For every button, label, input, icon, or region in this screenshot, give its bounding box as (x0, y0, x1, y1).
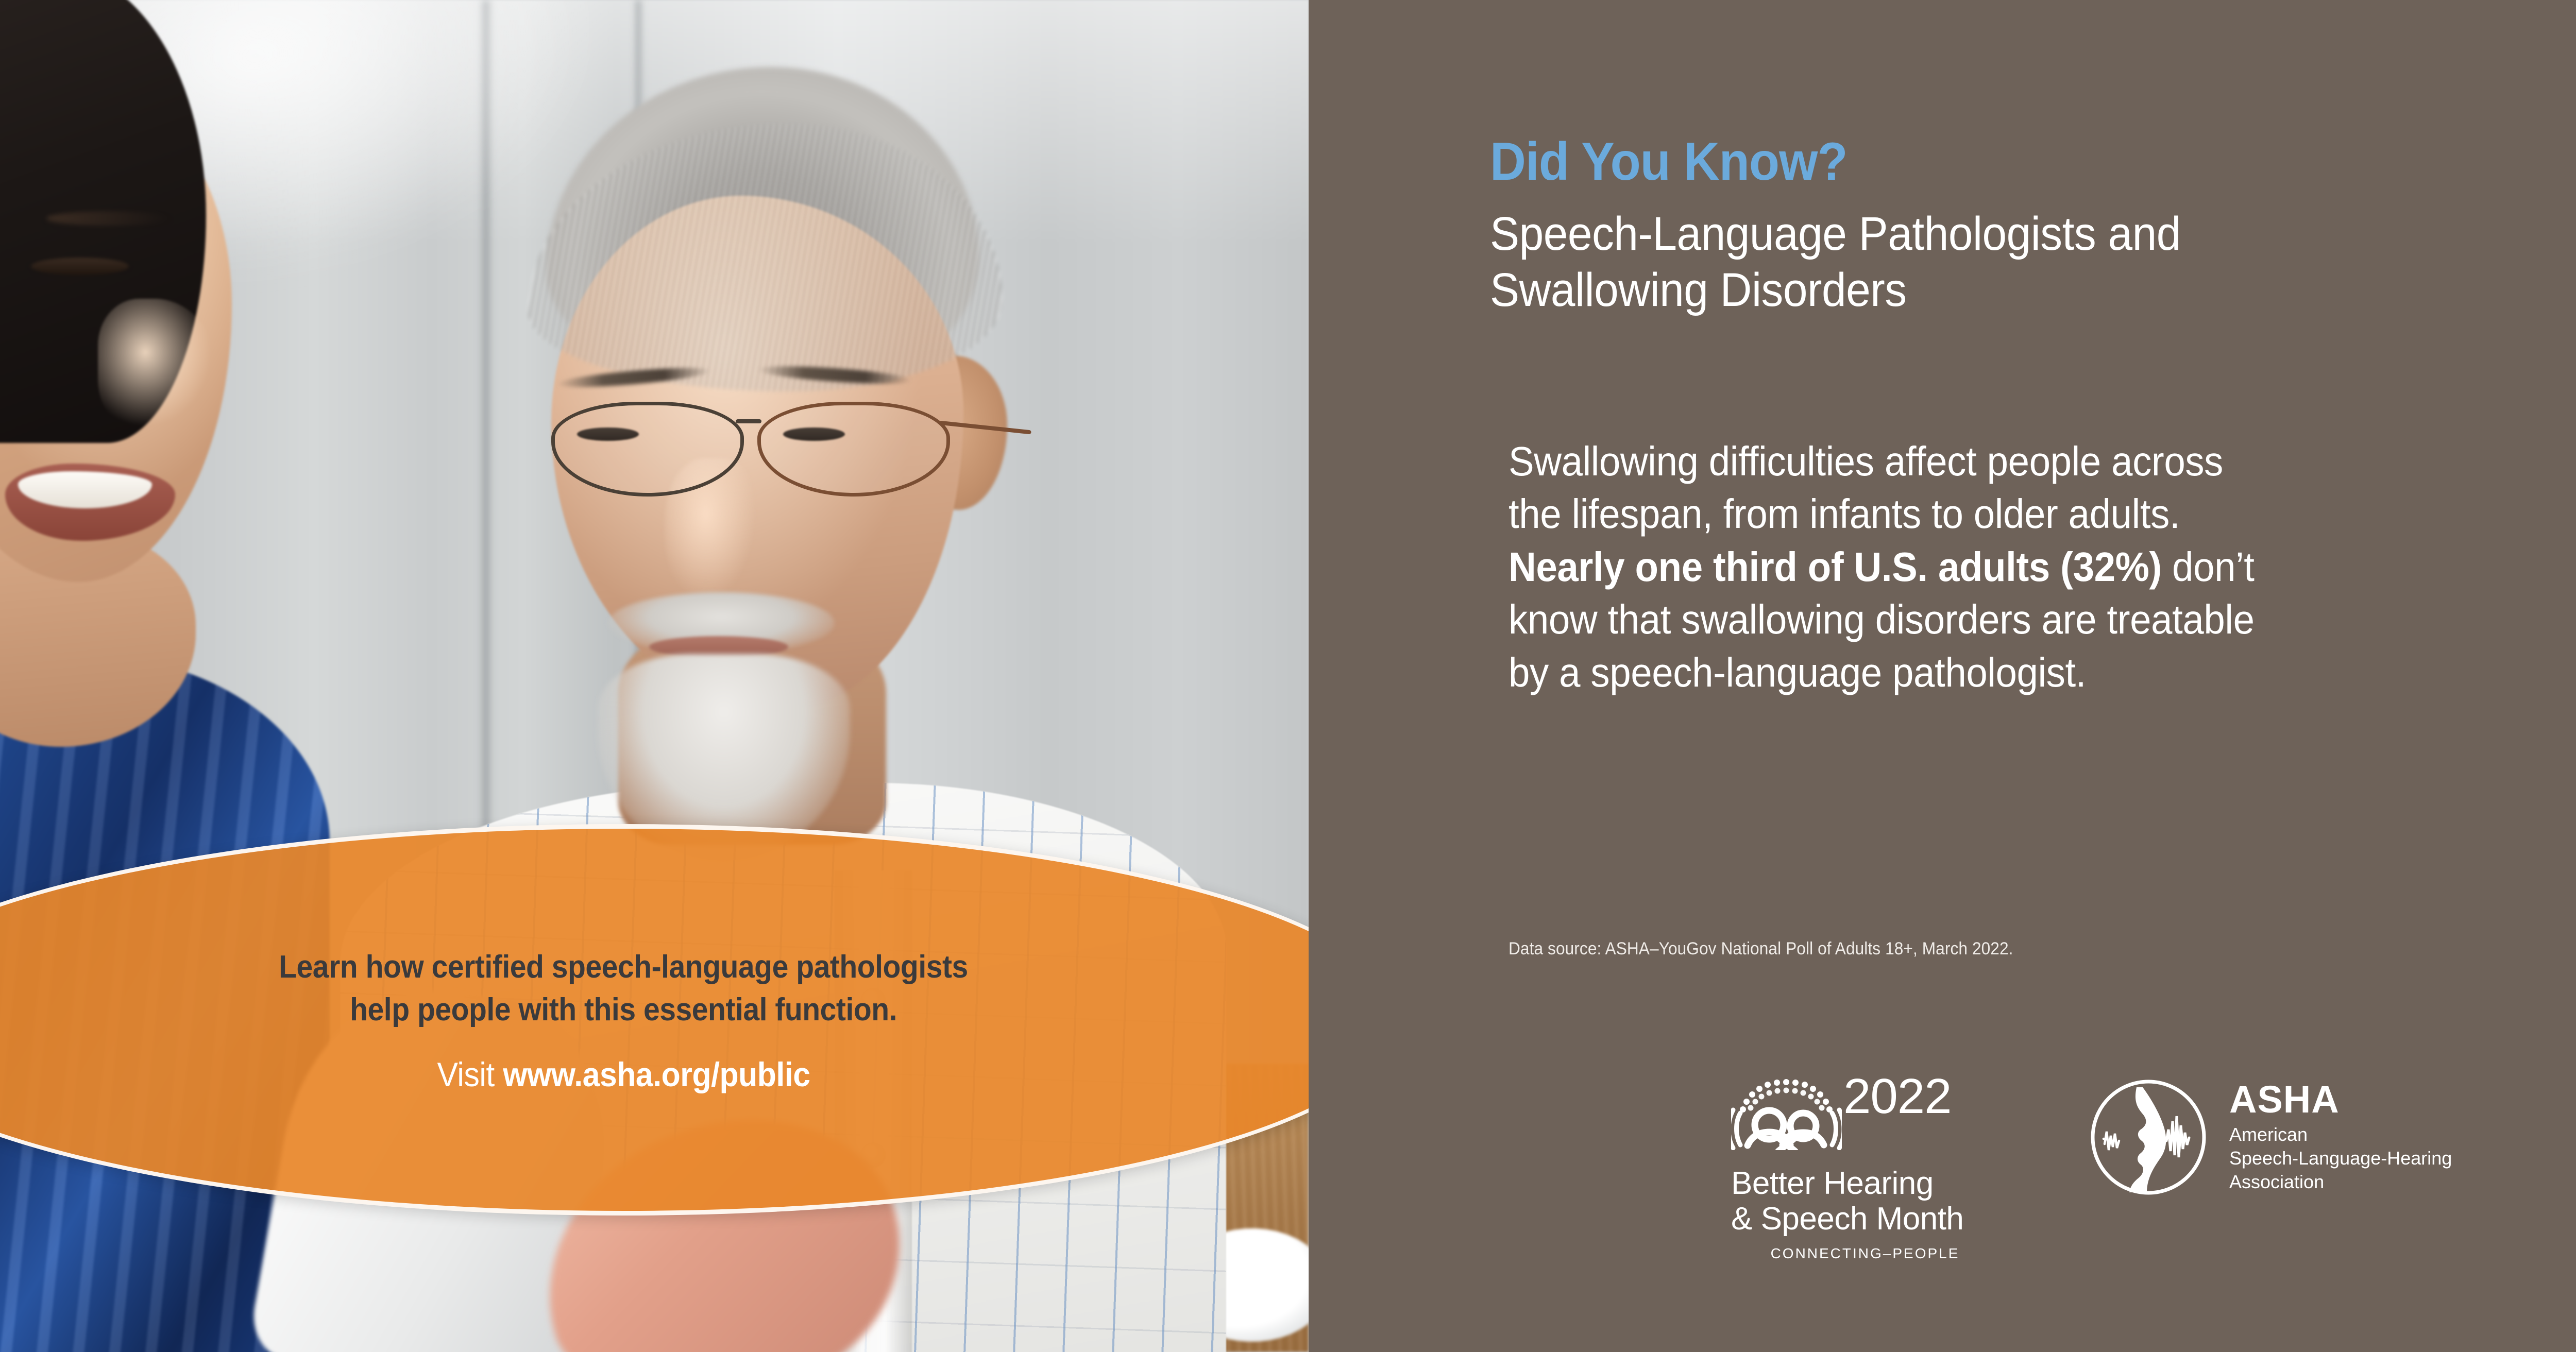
asha-logo: ASHA American Speech-Language-Hearing As… (2089, 1078, 2452, 1196)
asha-name-line-1: American (2229, 1123, 2452, 1146)
bhsm-top-row: 2022 (1731, 1069, 1999, 1161)
bhsm-line-1: Better Hearing (1731, 1166, 1999, 1201)
asha-profile-waveform-icon (2089, 1078, 2208, 1196)
callout-line-2: help people with this essential function… (350, 988, 897, 1031)
did-you-know-kicker: Did You Know? (1490, 131, 1848, 193)
visit-label: Visit (437, 1055, 503, 1093)
asha-name-line-2: Speech-Language-Hearing (2229, 1146, 2452, 1170)
subhead-line-2: Swallowing Disorders (1490, 262, 2400, 318)
asha-wordmark: ASHA American Speech-Language-Hearing As… (2229, 1081, 2452, 1194)
panel-subhead: Speech-Language Pathologists and Swallow… (1490, 206, 2400, 318)
clinician-eyebrow (46, 211, 170, 226)
eyeglass-lens-left (551, 402, 744, 497)
clinician-eye (31, 258, 129, 275)
poster-canvas: Learn how certified speech-language path… (0, 0, 2576, 1352)
callout-text-block: Learn how certified speech-language path… (0, 829, 1397, 1211)
eyeglass-bridge (736, 419, 761, 423)
bhsm-logo: 2022 Better Hearing & Speech Month CONNE… (1731, 1069, 1999, 1285)
bhsm-tagline: CONNECTING–PEOPLE (1731, 1245, 1999, 1262)
asha-full-name: American Speech-Language-Hearing Associa… (2229, 1123, 2452, 1194)
callout-visit-line: Visit www.asha.org/public (437, 1055, 810, 1094)
callout-line-1: Learn how certified speech-language path… (279, 946, 968, 988)
data-source-note: Data source: ASHA–YouGov National Poll o… (1509, 939, 2013, 959)
panel-body-copy: Swallowing difficulties affect people ac… (1509, 435, 2275, 699)
eyeglass-temple-arm (939, 421, 1031, 435)
info-panel: Did You Know? Speech-Language Pathologis… (1309, 0, 2576, 1352)
bhsm-line-2: & Speech Month (1731, 1201, 1999, 1237)
asha-acronym: ASHA (2229, 1081, 2452, 1119)
subhead-line-1: Speech-Language Pathologists and (1490, 206, 2400, 262)
asha-name-line-3: Association (2229, 1170, 2452, 1194)
eyeglasses (541, 402, 994, 494)
body-emphasis-stat: Nearly one third of U.S. adults (32%) (1509, 544, 2162, 590)
orange-oval-callout: Learn how certified speech-language path… (0, 824, 1401, 1216)
bhsm-two-people-sound-icon (1731, 1073, 1842, 1150)
eyeglass-lens-right (757, 402, 950, 497)
body-part-1: Swallowing difficulties affect people ac… (1509, 438, 2223, 537)
bhsm-year: 2022 (1843, 1072, 1952, 1121)
logo-row: 2022 Better Hearing & Speech Month CONNE… (1479, 1069, 2458, 1290)
website-url[interactable]: www.asha.org/public (503, 1055, 810, 1093)
